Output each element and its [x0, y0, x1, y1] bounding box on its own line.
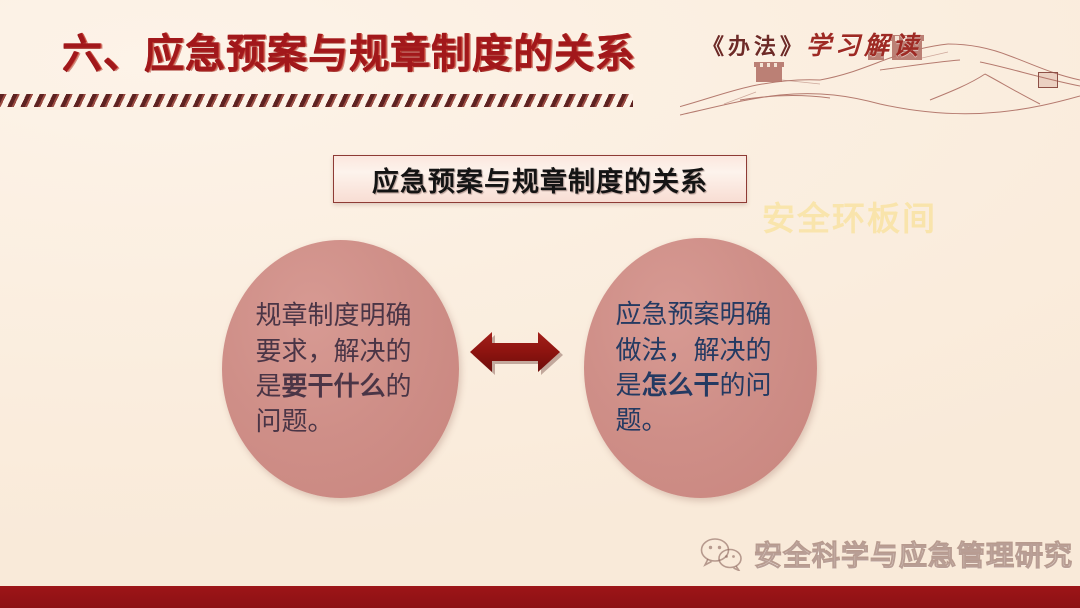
brand-watermark: 安全科学与应急管理研究: [700, 534, 1073, 574]
brand-name: 安全科学与应急管理研究: [754, 534, 1073, 574]
bottom-accent-bar: [0, 586, 1080, 608]
presentation-slide: 六、应急预案与规章制度的关系: [0, 0, 1080, 608]
page-title: 六、应急预案与规章制度的关系: [62, 21, 636, 79]
double-headed-arrow-icon: [468, 322, 564, 378]
wechat-icon: [700, 537, 744, 571]
concept-circle-right: 应急预案明确做法，解决的是怎么干的问题。: [584, 238, 817, 498]
concept-circle-left-text: 规章制度明确要求，解决的是要干什么的问题。: [256, 298, 426, 439]
concept-circle-right-text: 应急预案明确做法，解决的是怎么干的问题。: [616, 297, 786, 438]
seal-stamp-icon: [1038, 72, 1058, 88]
ornament-title: 《办法》学习解读: [702, 26, 922, 62]
section-heading-box: 应急预案与规章制度的关系: [333, 155, 747, 203]
section-heading-text: 应急预案与规章制度的关系: [372, 160, 708, 199]
hatched-divider: [0, 94, 633, 107]
concept-circle-left: 规章制度明确要求，解决的是要干什么的问题。: [222, 240, 459, 498]
segment-bold: 要干什么: [282, 371, 386, 401]
ornament-title-prefix: 《办法》: [702, 34, 806, 59]
ornament-title-main: 学习解读: [806, 33, 922, 60]
header-ornament: 《办法》学习解读: [680, 0, 1080, 118]
segment-bold: 怎么干: [642, 370, 720, 400]
